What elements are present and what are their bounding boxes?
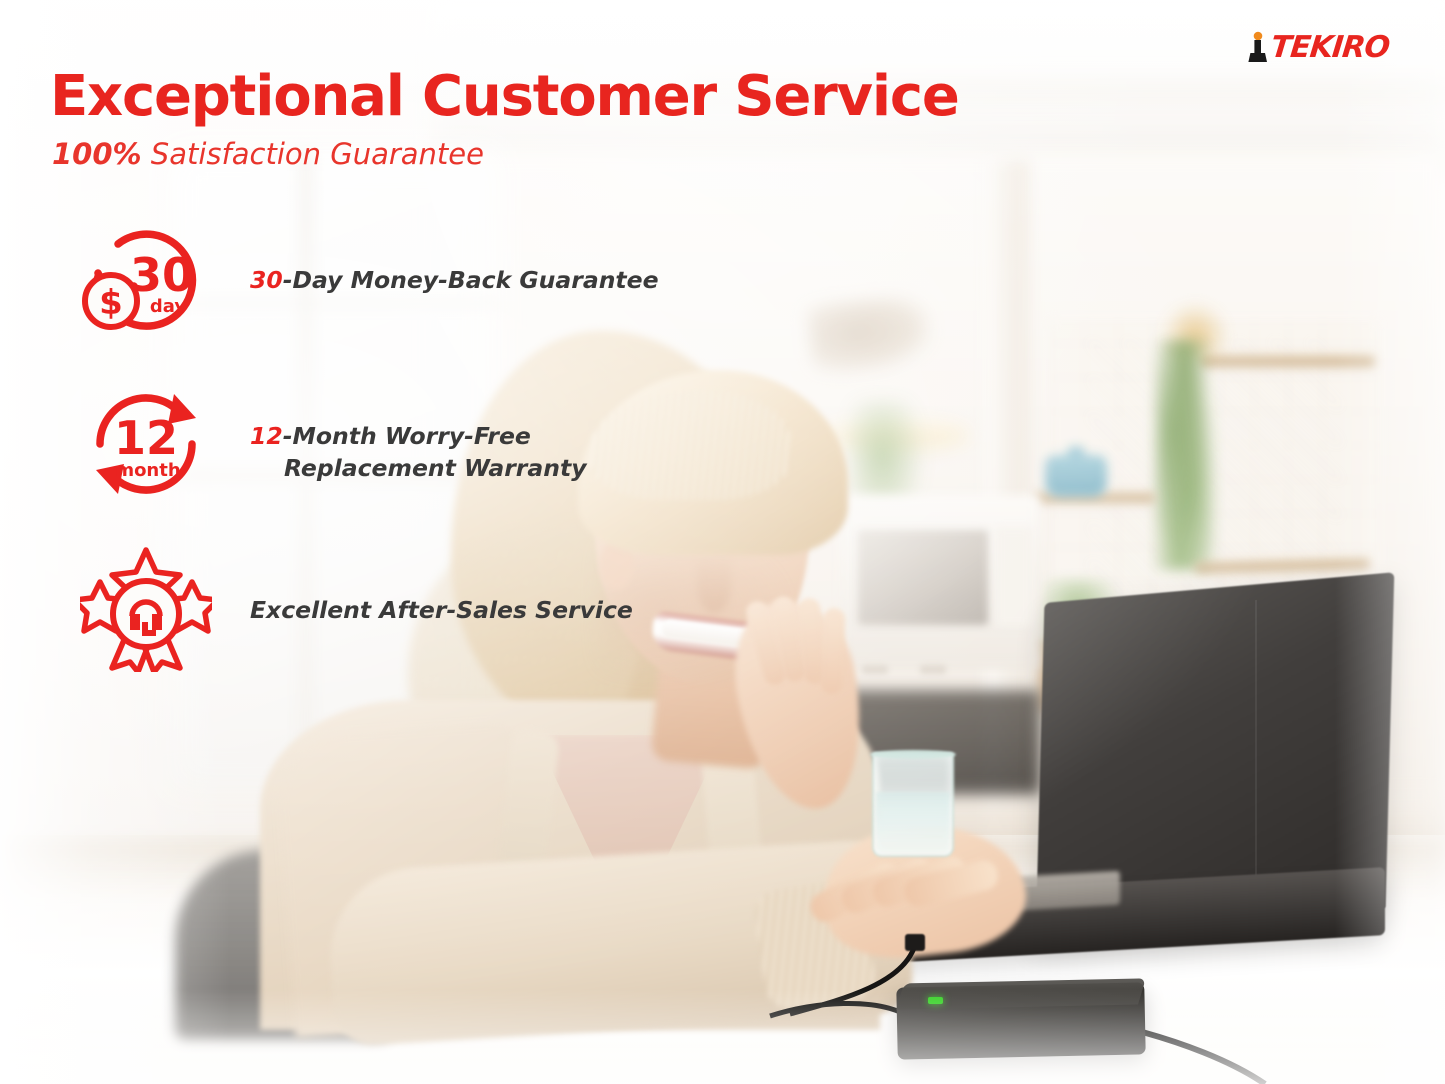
torch-icon [1246, 31, 1268, 65]
subtitle-rest: Satisfaction Guarantee [142, 137, 484, 171]
logo-wordmark: TEKIRO [1269, 30, 1391, 65]
replacement-warranty-12-month-icon: 12 month [82, 388, 210, 505]
feature-text-30: -Day Money-Back Guarantee [283, 266, 659, 294]
feature-after-sales-service [80, 542, 212, 677]
feature-label-12-month: 12-Month Worry-Free Replacement Warranty [250, 420, 587, 485]
subtitle-percent: 100% [52, 137, 142, 171]
feature-label-30-day: 30-Day Money-Back Guarantee [250, 264, 659, 296]
feature-text-12-line2: Replacement Warranty [250, 452, 587, 484]
feature-30-day-money-back: $ 30 day [78, 228, 208, 345]
svg-text:$: $ [99, 283, 123, 323]
overlay-content: TEKIRO Exceptional Customer Service 100%… [0, 0, 1445, 1084]
feature-number-12: 12 [250, 422, 283, 450]
feature-number-30: 30 [250, 266, 283, 294]
after-sales-service-badge-icon [80, 542, 212, 677]
money-back-30-day-icon: $ 30 day [78, 228, 208, 345]
feature-text-after-sales: Excellent After-Sales Service [250, 596, 633, 624]
page-title: Exceptional Customer Service [50, 64, 959, 129]
feature-label-after-sales: Excellent After-Sales Service [250, 594, 633, 626]
svg-text:12: 12 [114, 411, 178, 465]
feature-12-month-warranty: 12 month [82, 388, 210, 505]
tekiro-logo[interactable]: TEKIRO [1246, 30, 1389, 65]
svg-text:day: day [150, 296, 186, 317]
svg-text:month: month [115, 460, 180, 481]
feature-text-12: -Month Worry-Free [283, 422, 531, 450]
svg-text:30: 30 [130, 248, 194, 302]
page-subtitle: 100% Satisfaction Guarantee [52, 137, 484, 171]
banner-canvas: TEKIRO Exceptional Customer Service 100%… [0, 0, 1445, 1084]
